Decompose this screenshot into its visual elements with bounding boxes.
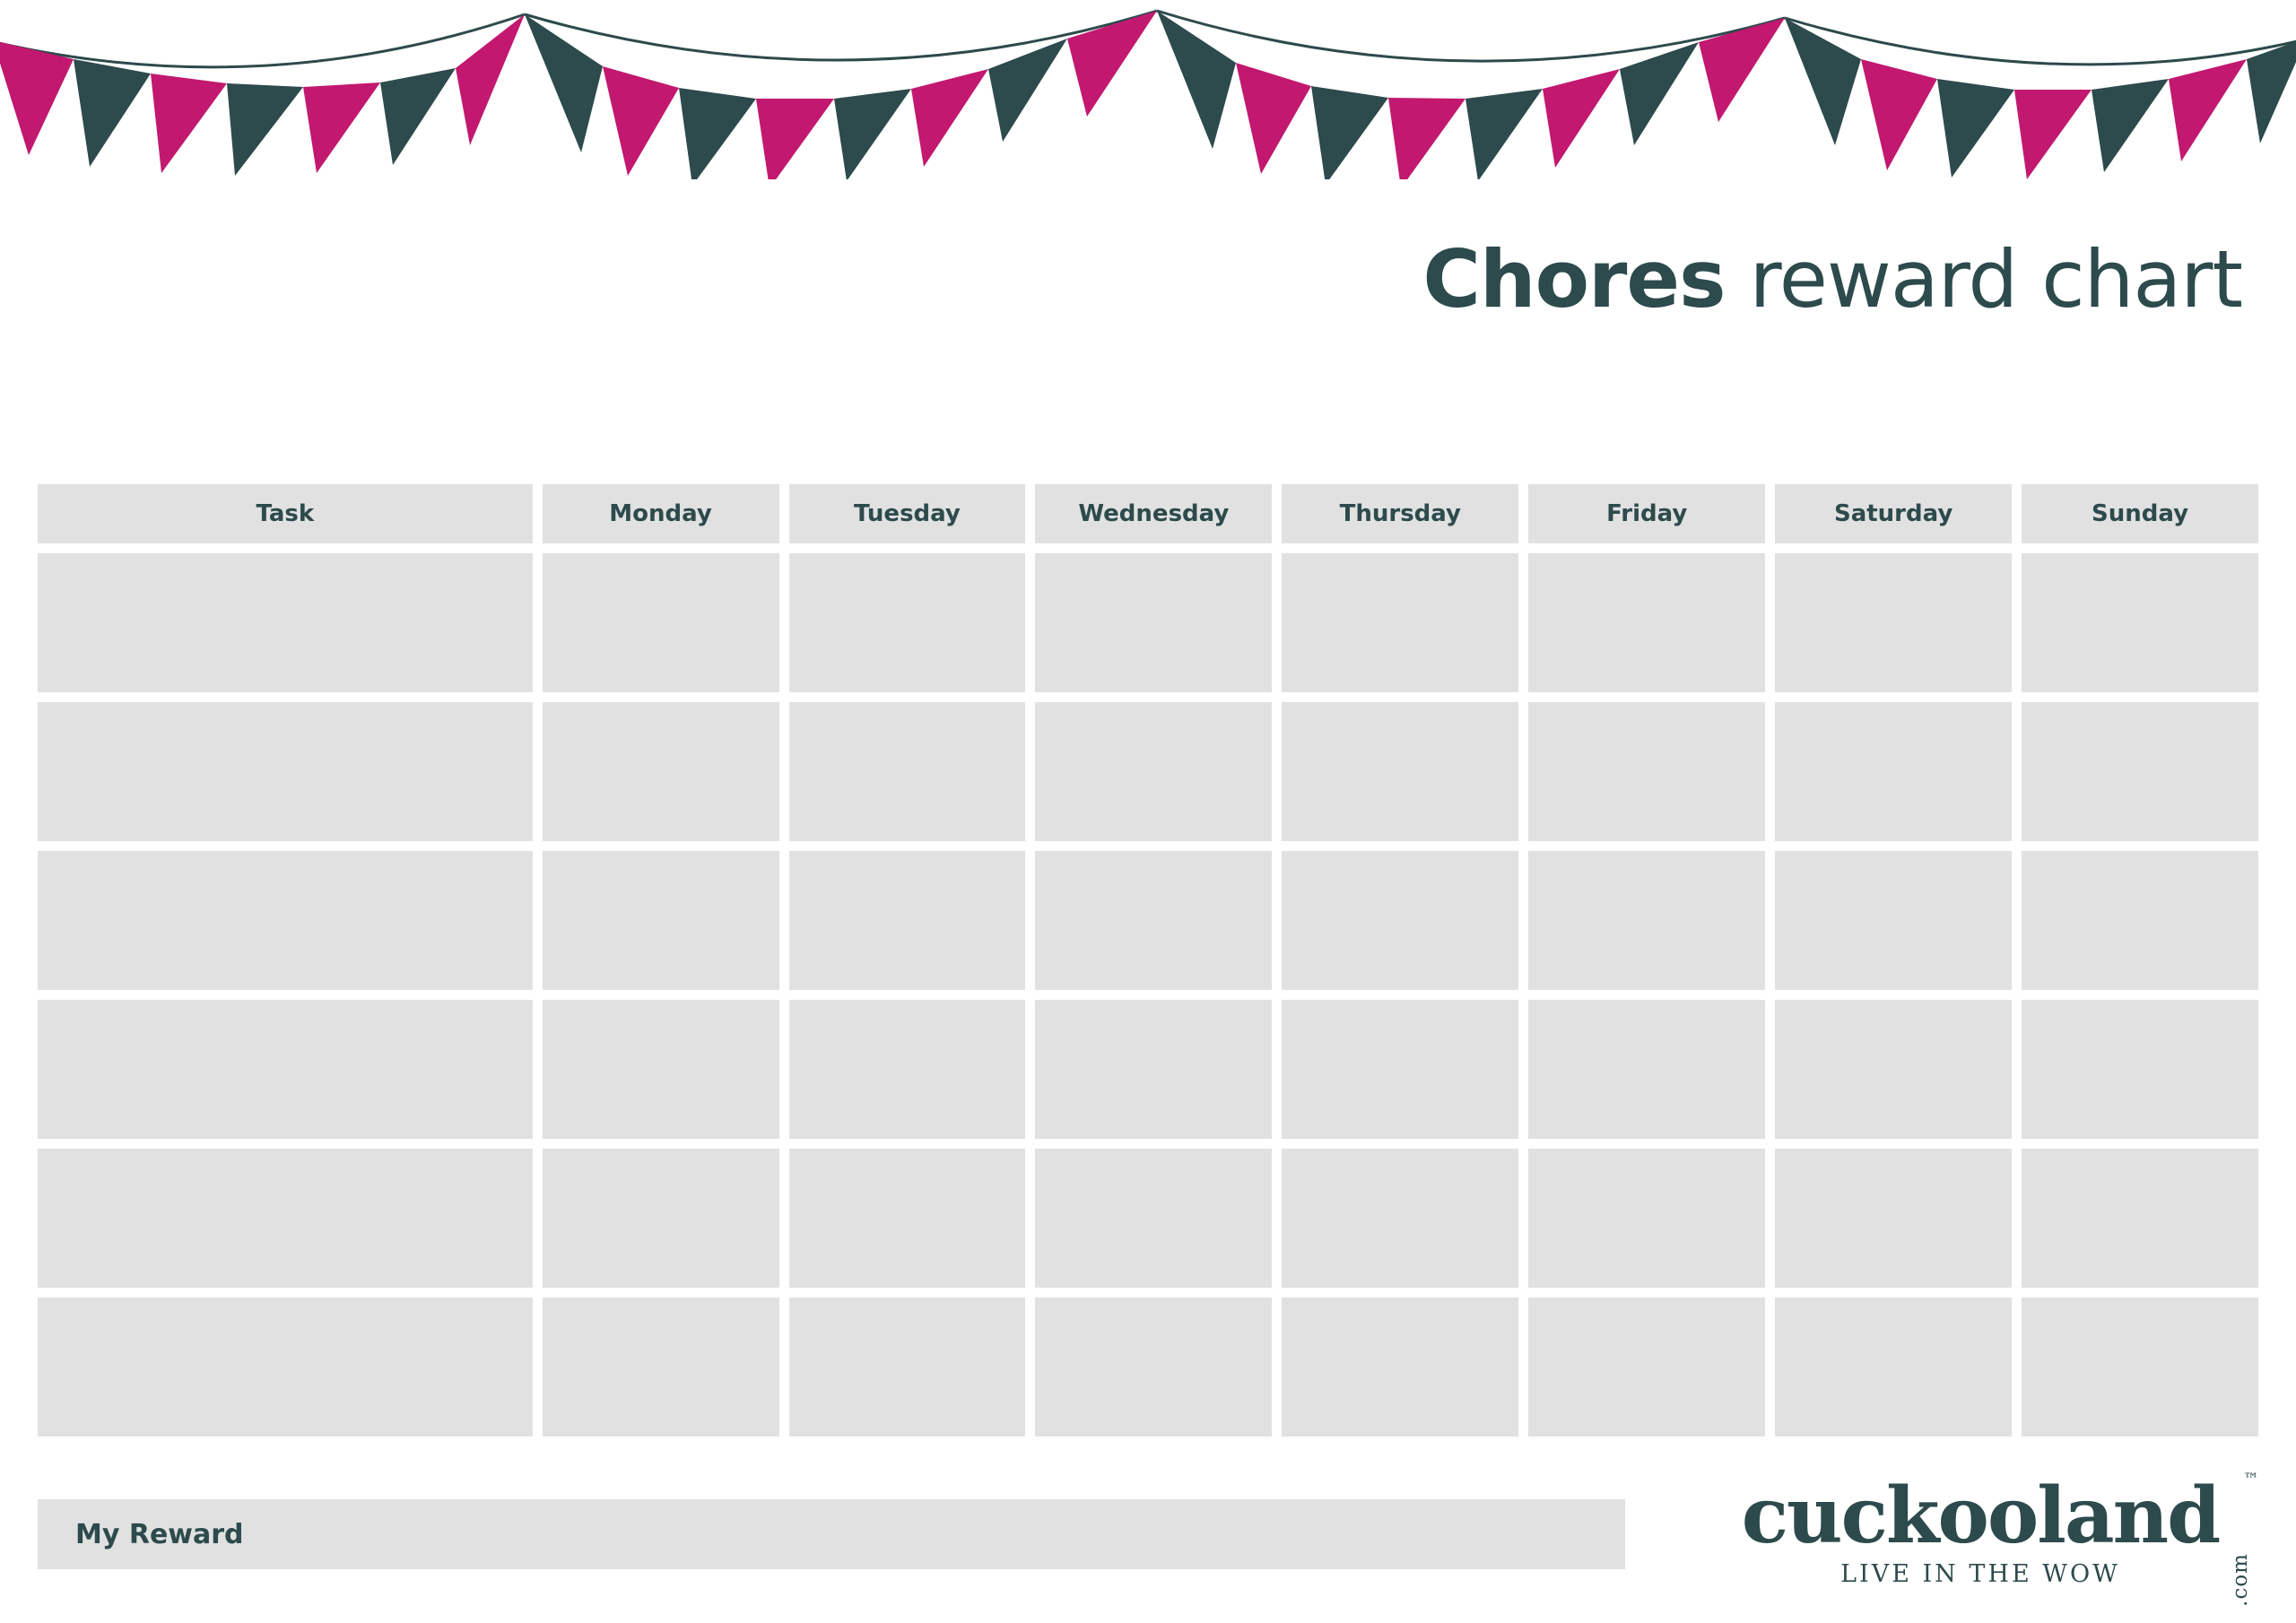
table-row [38, 702, 2258, 841]
table-row [38, 1149, 2258, 1288]
cell-sunday[interactable] [2022, 1149, 2258, 1288]
page-title-strong: Chores [1422, 233, 1725, 325]
cell-wednesday[interactable] [1035, 1000, 1272, 1139]
cell-sunday[interactable] [2022, 851, 2258, 990]
chores-chart-table: TaskMondayTuesdayWednesdayThursdayFriday… [38, 484, 2258, 1446]
cell-friday[interactable] [1528, 553, 1765, 692]
cell-tuesday[interactable] [789, 1298, 1026, 1436]
cell-saturday[interactable] [1775, 851, 2012, 990]
my-reward-bar[interactable]: My Reward [38, 1499, 1625, 1569]
cell-friday[interactable] [1528, 1000, 1765, 1139]
column-header-task: Task [38, 484, 533, 543]
cell-saturday[interactable] [1775, 553, 2012, 692]
cell-wednesday[interactable] [1035, 1298, 1272, 1436]
column-header-label: Task [256, 500, 314, 527]
cell-thursday[interactable] [1282, 553, 1518, 692]
cell-sunday[interactable] [2022, 553, 2258, 692]
cell-wednesday[interactable] [1035, 702, 1272, 841]
cell-friday[interactable] [1528, 851, 1765, 990]
cell-tuesday[interactable] [789, 1000, 1026, 1139]
trademark-icon: ™ [2243, 1472, 2258, 1488]
table-row [38, 1000, 2258, 1139]
cell-friday[interactable] [1528, 1149, 1765, 1288]
cell-thursday[interactable] [1282, 1149, 1518, 1288]
logo-tagline: LIVE IN THE WOW [1720, 1560, 2240, 1588]
column-header-label: Monday [609, 500, 712, 527]
cell-friday[interactable] [1528, 702, 1765, 841]
table-row [38, 851, 2258, 990]
column-header-sunday: Sunday [2022, 484, 2258, 543]
cell-tuesday[interactable] [789, 553, 1026, 692]
cell-saturday[interactable] [1775, 1000, 2012, 1139]
cell-task[interactable] [38, 1298, 533, 1436]
page-title: Chores reward chart [0, 240, 2296, 319]
cell-sunday[interactable] [2022, 702, 2258, 841]
cell-wednesday[interactable] [1035, 851, 1272, 990]
column-header-label: Tuesday [854, 500, 961, 527]
column-header-label: Saturday [1834, 500, 1952, 527]
cell-sunday[interactable] [2022, 1298, 2258, 1436]
table-row [38, 1298, 2258, 1436]
cell-tuesday[interactable] [789, 702, 1026, 841]
cell-saturday[interactable] [1775, 1298, 2012, 1436]
column-header-saturday: Saturday [1775, 484, 2012, 543]
cell-thursday[interactable] [1282, 1000, 1518, 1139]
cell-wednesday[interactable] [1035, 1149, 1272, 1288]
column-header-wednesday: Wednesday [1035, 484, 1272, 543]
column-header-monday: Monday [543, 484, 779, 543]
cell-monday[interactable] [543, 553, 779, 692]
table-row [38, 553, 2258, 692]
logo-word: cuckooland [1742, 1471, 2220, 1561]
column-header-label: Friday [1606, 500, 1687, 527]
logo-wordmark: cuckooland .com ™ [1742, 1478, 2220, 1555]
table-header-row: TaskMondayTuesdayWednesdayThursdayFriday… [38, 484, 2258, 543]
table-body [38, 553, 2258, 1436]
bunting-flags [0, 11, 2296, 179]
cell-tuesday[interactable] [789, 1149, 1026, 1288]
cell-monday[interactable] [543, 702, 779, 841]
cuckooland-logo: cuckooland .com ™ LIVE IN THE WOW [1720, 1478, 2240, 1588]
logo-dotcom: .com [2231, 1553, 2251, 1607]
cell-thursday[interactable] [1282, 702, 1518, 841]
column-header-thursday: Thursday [1282, 484, 1518, 543]
cell-monday[interactable] [543, 1298, 779, 1436]
column-header-friday: Friday [1528, 484, 1765, 543]
cell-wednesday[interactable] [1035, 553, 1272, 692]
cell-sunday[interactable] [2022, 1000, 2258, 1139]
column-header-label: Thursday [1340, 500, 1461, 527]
my-reward-label: My Reward [38, 1519, 244, 1550]
cell-task[interactable] [38, 851, 533, 990]
cell-thursday[interactable] [1282, 851, 1518, 990]
cell-task[interactable] [38, 1149, 533, 1288]
cell-friday[interactable] [1528, 1298, 1765, 1436]
column-header-label: Sunday [2092, 500, 2188, 527]
cell-tuesday[interactable] [789, 851, 1026, 990]
cell-monday[interactable] [543, 1000, 779, 1139]
cell-monday[interactable] [543, 851, 779, 990]
page-title-light: reward chart [1726, 233, 2243, 325]
cell-thursday[interactable] [1282, 1298, 1518, 1436]
cell-saturday[interactable] [1775, 702, 2012, 841]
column-header-label: Wednesday [1078, 500, 1229, 527]
cell-task[interactable] [38, 1000, 533, 1139]
bunting-banner [0, 0, 2296, 179]
cell-saturday[interactable] [1775, 1149, 2012, 1288]
column-header-tuesday: Tuesday [789, 484, 1026, 543]
cell-task[interactable] [38, 553, 533, 692]
cell-monday[interactable] [543, 1149, 779, 1288]
cell-task[interactable] [38, 702, 533, 841]
